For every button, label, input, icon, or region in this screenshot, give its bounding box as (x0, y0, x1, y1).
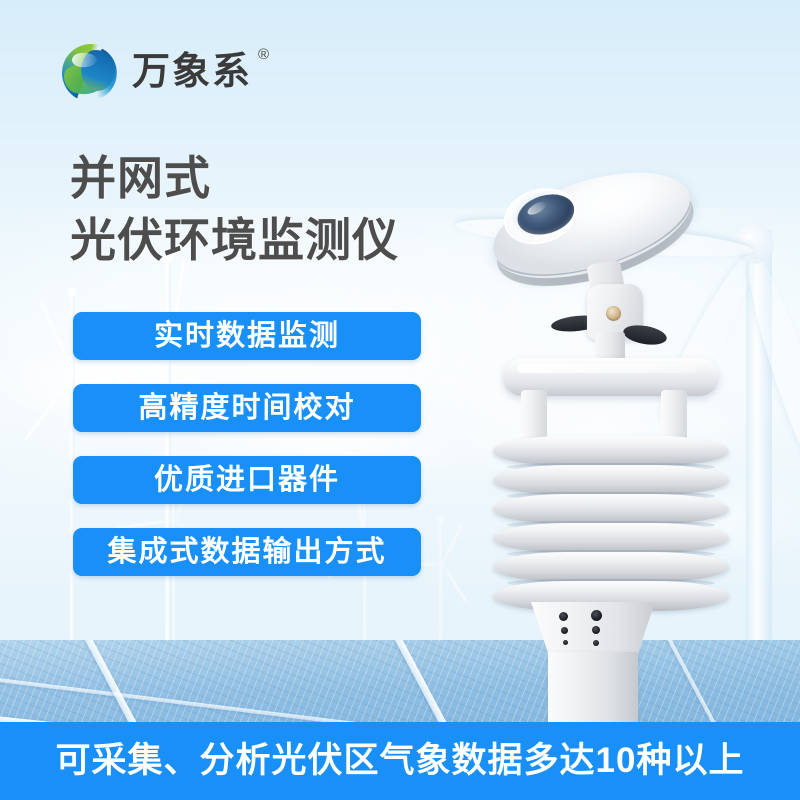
radiation-shield (493, 436, 729, 616)
brand-name: 万象系 (132, 48, 252, 96)
brand-logo[interactable]: 万象系 ® (62, 40, 262, 106)
headline-line-2: 光伏环境监测仪 (70, 209, 399, 271)
shield-plate (493, 552, 729, 582)
feature-badge-label: 集成式数据输出方式 (107, 528, 386, 576)
shield-plate (493, 465, 729, 495)
globe-swirl-logo-icon (62, 44, 120, 102)
feature-badge-label: 高精度时间校对 (138, 384, 355, 432)
bottom-banner-text: 可采集、分析光伏区气象数据多达10种以上 (56, 722, 745, 800)
shield-plate (493, 436, 729, 466)
page-title: 并网式 光伏环境监测仪 (70, 147, 399, 271)
sensor-port (559, 612, 568, 621)
crossbar-highlight (517, 364, 697, 373)
hinge-bolt (606, 306, 621, 321)
registered-trademark-mark: ® (258, 46, 269, 63)
feature-badge-label: 优质进口器件 (154, 456, 340, 504)
sensor-port (591, 610, 602, 621)
product-banner: 万象系 ® 并网式 光伏环境监测仪 实时数据监测 高精度时间校对 优质进口器件 … (0, 0, 800, 800)
shield-plate (493, 523, 729, 553)
sensor-port (563, 640, 568, 645)
sensor-port (593, 640, 599, 646)
feature-badge-integrated-output[interactable]: 集成式数据输出方式 (73, 528, 421, 576)
shield-plate (493, 494, 729, 524)
hinge-shadow-right (622, 322, 668, 347)
bottom-banner: 可采集、分析光伏区气象数据多达10种以上 (0, 722, 800, 800)
sensor-port (561, 627, 568, 634)
feature-badge-imported-components[interactable]: 优质进口器件 (73, 456, 421, 504)
product-image (455, 140, 755, 710)
sensor-port (592, 626, 600, 634)
feature-badge-label: 实时数据监测 (154, 312, 340, 360)
feature-badge-realtime-monitoring[interactable]: 实时数据监测 (73, 312, 421, 360)
headline-line-1: 并网式 (70, 147, 399, 209)
feature-badge-list: 实时数据监测 高精度时间校对 优质进口器件 集成式数据输出方式 (73, 312, 421, 600)
feature-badge-time-calibration[interactable]: 高精度时间校对 (73, 384, 421, 432)
